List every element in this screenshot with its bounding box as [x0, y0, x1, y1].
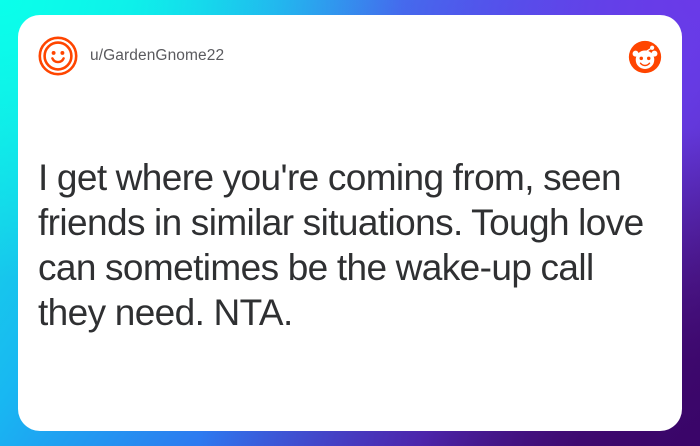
post-body-text: I get where you're coming from, seen fri… — [38, 155, 662, 335]
username-label: u/GardenGnome22 — [90, 47, 224, 65]
smiley-face-avatar-icon — [38, 36, 78, 76]
reddit-comment-card: u/GardenGnome22 I get where you're comin… — [18, 15, 682, 431]
user-identity-block[interactable]: u/GardenGnome22 — [38, 36, 224, 76]
screenshot-canvas: u/GardenGnome22 I get where you're comin… — [0, 0, 700, 446]
card-header: u/GardenGnome22 — [38, 36, 662, 84]
reddit-snoo-logo-icon[interactable] — [628, 40, 662, 74]
